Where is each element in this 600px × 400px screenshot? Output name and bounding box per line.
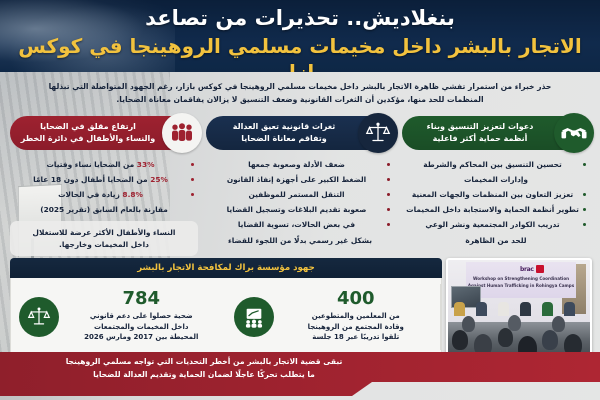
brac-efforts-body: 784 ضحية حصلوا على دعم قانوني داخل المخي… xyxy=(10,278,442,356)
footer-line2: ما يتطلب تحركًا عاجلًا لضمان الحماية وتق… xyxy=(0,368,408,381)
bullet-highlight: 8.8% xyxy=(122,190,143,199)
stat-description: ضحية حصلوا على دعم قانوني داخل المخيمات … xyxy=(65,311,218,344)
page-title-line2: الاتجار بالبشر داخل مخيمات مسلمي الروهين… xyxy=(14,33,586,72)
photo-panelist xyxy=(542,302,553,316)
bullet-highlight: 33% xyxy=(137,160,155,169)
bullet-text: تحسين التنسيق بين المحاكم والشرطة xyxy=(406,159,579,170)
bullet-dot-icon xyxy=(191,163,194,166)
list-item: بشكل غير رسمي بدلًا من اللجوء للقضاء xyxy=(210,235,390,246)
page-title-line1: بنغلاديش.. تحذيرات من تصاعد xyxy=(14,5,586,31)
photo-panel-row xyxy=(452,302,590,316)
training-board-icon xyxy=(234,297,274,337)
card-head-line2-legal: وتفاقم معاناة الضحايا xyxy=(214,133,354,145)
list-item: مقارنة بالعام السابق (تقرير 2025) xyxy=(14,204,194,215)
stat-number: 400 xyxy=(280,290,433,309)
photo-banner-line2: Against Human Trafficking in Rohingya Ca… xyxy=(466,283,576,288)
bullet-list-legal-gaps: ضعف الأدلة وصعوبة جمعها الضغط الكبير على… xyxy=(206,159,394,246)
card-head-line1-victims: ارتفاع مقلق في الضحايا xyxy=(18,121,158,133)
photo-audience-head xyxy=(462,316,475,332)
card-note-line1: النساء والأطفال الأكثر عرضة للاستغلال xyxy=(17,227,191,238)
card-victims-rise: ارتفاع مقلق في الضحايا والنساء والأطفال … xyxy=(10,116,198,256)
photo-audience-head xyxy=(498,328,513,347)
title-block: بنغلاديش.. تحذيرات من تصاعد الاتجار بالب… xyxy=(14,5,586,72)
brac-efforts-section: جهود مؤسسة براك لمكافحة الاتجار بالبشر xyxy=(10,258,442,356)
workshop-photo: brac Workshop on Strengthening Coordinat… xyxy=(446,258,592,362)
card-head-line2-victims: والنساء والأطفال في دائرة الخطر xyxy=(18,133,158,145)
stat-desc-line2: وقادة المجتمع من الروهينجا xyxy=(280,322,433,333)
card-head-line1-coordination: دعوات لتعزيز التنسيق وبناء xyxy=(410,121,550,133)
brac-logo-text: brac xyxy=(520,266,534,273)
photo-panelist xyxy=(454,302,465,316)
list-item: في بعض الحالات، تسوية القضايا xyxy=(210,219,390,230)
list-item: تعزيز التعاون بين المنظمات والجهات المعن… xyxy=(406,189,586,200)
subtitle-line1: حذر خبراء من استمرار تفشي ظاهرة الاتجار … xyxy=(72,82,551,91)
bullet-text: في بعض الحالات، تسوية القضايا xyxy=(210,219,383,230)
photo-event-banner: brac Workshop on Strengthening Coordinat… xyxy=(466,262,576,298)
photo-panelist xyxy=(520,302,531,316)
list-item: الضغط الكبير على أجهزة إنفاذ القانون xyxy=(210,174,390,185)
card-header-text-victims-rise: ارتفاع مقلق في الضحايا والنساء والأطفال … xyxy=(18,121,158,144)
card-header-victims-rise: ارتفاع مقلق في الضحايا والنساء والأطفال … xyxy=(10,116,198,150)
photo-panelist xyxy=(498,302,509,316)
stat-trained-volunteers: 400 من المعلمين والمتطوعين وقادة المجتمع… xyxy=(226,284,442,350)
list-item: تدريب الكوادر المجتمعية ونشر الوعي xyxy=(406,219,586,230)
bullet-text: تطوير أنظمة الحماية والاستجابة داخل المخ… xyxy=(406,204,579,215)
bullet-dot-icon xyxy=(583,223,586,226)
scales-of-justice-icon xyxy=(358,113,398,153)
header-band: بنغلاديش.. تحذيرات من تصاعد الاتجار بالب… xyxy=(0,0,600,72)
stat-description: من المعلمين والمتطوعين وقادة المجتمع من … xyxy=(280,311,433,344)
people-group-icon xyxy=(162,113,202,153)
footer-banner-text: تبقى قضية الاتجار بالبشر من أخطر التحديا… xyxy=(0,355,408,382)
bullet-dot-icon xyxy=(191,193,194,196)
card-legal-gaps: ثغرات قانونية تعيق العدالة وتفاقم معاناة… xyxy=(206,116,394,256)
bullet-dot-icon xyxy=(583,193,586,196)
bullet-dot-icon xyxy=(387,208,390,211)
list-item: 33% من الضحايا نساء وفتيات xyxy=(14,159,194,170)
stat-desc-line3: تلقوا تدريبًا عبر 18 جلسة xyxy=(280,332,433,343)
photo-audience-head xyxy=(542,330,558,350)
bullet-list-victims-rise: 33% من الضحايا نساء وفتيات 25% من الضحاي… xyxy=(10,159,198,215)
bullet-text: الضغط الكبير على أجهزة إنفاذ القانون xyxy=(210,174,383,185)
list-item: تطوير أنظمة الحماية والاستجابة داخل المخ… xyxy=(406,204,586,215)
bullet-text: تعزيز التعاون بين المنظمات والجهات المعن… xyxy=(406,189,579,200)
bullet-label: من الضحايا نساء وفتيات xyxy=(47,160,135,169)
card-header-legal-gaps: ثغرات قانونية تعيق العدالة وتفاقم معاناة… xyxy=(206,116,394,150)
bullet-text: وإدارات المخيمات xyxy=(406,174,586,185)
bullet-text: للحد من الظاهرة xyxy=(406,235,586,246)
card-header-coordination-calls: دعوات لتعزيز التنسيق وبناء أنظمة حماية أ… xyxy=(402,116,590,150)
photo-audience-head xyxy=(508,315,521,331)
brac-logo-mark-icon xyxy=(536,265,544,273)
stat-text-trained-volunteers: 400 من المعلمين والمتطوعين وقادة المجتمع… xyxy=(280,290,433,343)
stat-desc-line1: ضحية حصلوا على دعم قانوني xyxy=(65,311,218,322)
photo-audience-head xyxy=(452,330,468,350)
photo-audience-head xyxy=(552,316,565,332)
bullet-text: تدريب الكوادر المجتمعية ونشر الوعي xyxy=(406,219,579,230)
cards-row: ارتفاع مقلق في الضحايا والنساء والأطفال … xyxy=(10,116,590,256)
scales-of-justice-icon xyxy=(19,297,59,337)
bullet-dot-icon xyxy=(387,193,390,196)
list-item: 25% من الضحايا أطفال دون 18 عامًا xyxy=(14,174,194,185)
list-item: وإدارات المخيمات xyxy=(406,174,586,185)
stat-desc-line3: المحيطة بين 2017 ومارس 2026 xyxy=(65,332,218,343)
list-item: للحد من الظاهرة xyxy=(406,235,586,246)
list-item: 8.8% زيادة في الحالات xyxy=(14,189,194,200)
bullet-dot-icon xyxy=(387,178,390,181)
bullet-text: التنقل المستمر للموظفين xyxy=(210,189,383,200)
bullet-dot-icon xyxy=(583,163,586,166)
bullet-text: 33% من الضحايا نساء وفتيات xyxy=(14,159,187,170)
stat-desc-line1: من المعلمين والمتطوعين xyxy=(280,311,433,322)
stat-legal-support: 784 ضحية حصلوا على دعم قانوني داخل المخي… xyxy=(11,284,226,350)
list-item: صعوبة تقديم البلاغات وتسجيل القضايا xyxy=(210,204,390,215)
bullet-dot-icon xyxy=(583,208,586,211)
stat-number: 784 xyxy=(65,290,218,309)
bullet-label: زيادة في الحالات xyxy=(58,190,120,199)
bullet-text: 8.8% زيادة في الحالات xyxy=(14,189,187,200)
list-item: التنقل المستمر للموظفين xyxy=(210,189,390,200)
list-item: ضعف الأدلة وصعوبة جمعها xyxy=(210,159,390,170)
brac-logo: brac xyxy=(520,265,544,273)
bullet-dot-icon xyxy=(191,178,194,181)
bullet-text: صعوبة تقديم البلاغات وتسجيل القضايا xyxy=(210,204,383,215)
bullet-text: ضعف الأدلة وصعوبة جمعها xyxy=(210,159,383,170)
stat-desc-line2: داخل المخيمات والمجتمعات xyxy=(65,322,218,333)
card-header-text-legal-gaps: ثغرات قانونية تعيق العدالة وتفاقم معاناة… xyxy=(214,121,354,144)
bullet-text: مقارنة بالعام السابق (تقرير 2025) xyxy=(14,204,194,215)
photo-panelist xyxy=(564,302,575,316)
bullet-text: 25% من الضحايا أطفال دون 18 عامًا xyxy=(14,174,187,185)
bullet-list-coordination: تحسين التنسيق بين المحاكم والشرطة وإدارا… xyxy=(402,159,590,246)
card-head-line2-coordination: أنظمة حماية أكثر فاعلية xyxy=(410,133,550,145)
card-note-line2: داخل المخيمات وخارجها. xyxy=(17,239,191,250)
card-head-line1-legal: ثغرات قانونية تعيق العدالة xyxy=(214,121,354,133)
brac-efforts-title: جهود مؤسسة براك لمكافحة الاتجار بالبشر xyxy=(137,263,315,273)
card-coordination-calls: دعوات لتعزيز التنسيق وبناء أنظمة حماية أ… xyxy=(402,116,590,256)
list-item: تحسين التنسيق بين المحاكم والشرطة xyxy=(406,159,586,170)
bullet-dot-icon xyxy=(387,223,390,226)
stat-text-legal-support: 784 ضحية حصلوا على دعم قانوني داخل المخي… xyxy=(65,290,218,343)
footer-line1: تبقى قضية الاتجار بالبشر من أخطر التحديا… xyxy=(0,355,408,368)
brac-efforts-header: جهود مؤسسة براك لمكافحة الاتجار بالبشر xyxy=(10,258,442,278)
handshake-icon xyxy=(554,113,594,153)
bullet-label: من الضحايا أطفال دون 18 عامًا xyxy=(33,175,148,184)
photo-banner-line1: Workshop on Strengthening Coordination xyxy=(466,276,576,281)
infographic-canvas: بنغلاديش.. تحذيرات من تصاعد الاتجار بالب… xyxy=(0,0,600,400)
subtitle-paragraph: حذر خبراء من استمرار تفشي ظاهرة الاتجار … xyxy=(32,80,568,107)
bullet-text: بشكل غير رسمي بدلًا من اللجوء للقضاء xyxy=(210,235,390,246)
bullet-dot-icon xyxy=(387,163,390,166)
card-header-text-coordination: دعوات لتعزيز التنسيق وبناء أنظمة حماية أ… xyxy=(410,121,550,144)
card-note-victims-rise: النساء والأطفال الأكثر عرضة للاستغلال دا… xyxy=(10,221,198,256)
bullet-highlight: 25% xyxy=(150,175,168,184)
photo-panelist xyxy=(476,302,487,316)
